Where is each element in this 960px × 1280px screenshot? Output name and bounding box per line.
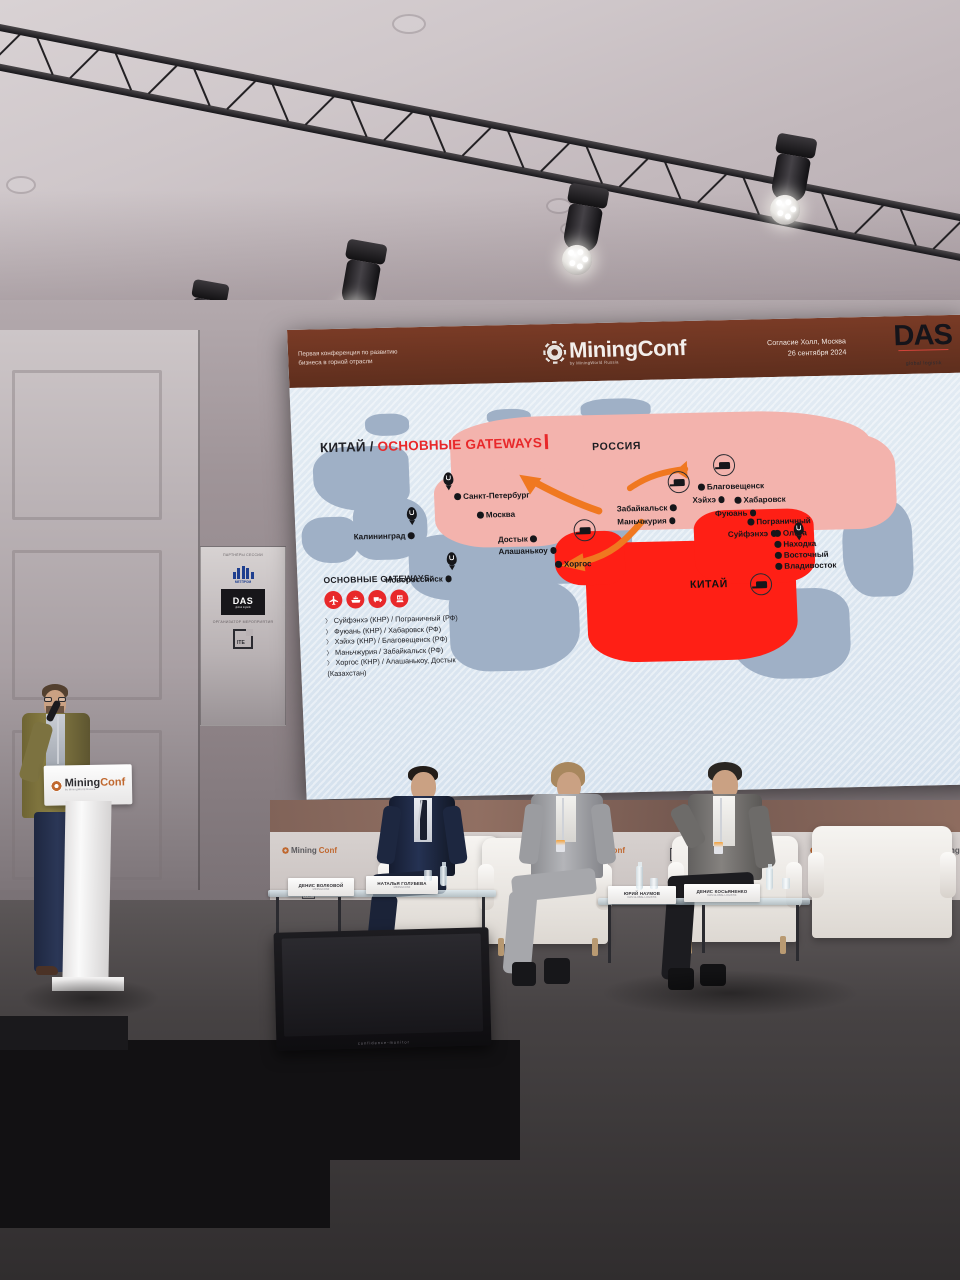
landmass-iberia xyxy=(301,516,359,563)
podium-brand: MiningConf by MiningWorld Russia xyxy=(65,778,126,793)
tumbler xyxy=(650,878,658,889)
city-marker: Забайкальск xyxy=(617,503,677,513)
city-marker: Суйфэнхэ xyxy=(728,529,778,539)
plane-icon xyxy=(324,591,343,609)
city-marker: Хабаровск xyxy=(734,495,785,505)
ceiling-fixture xyxy=(6,176,36,194)
ship-icon xyxy=(346,590,365,608)
legend-items: Суйфэнхэ (КНР) / Пограничный (РФ) Фуюань… xyxy=(325,613,460,679)
das-tagline-slide: global logistik xyxy=(906,360,942,367)
city-marker: Пограничный xyxy=(747,516,811,526)
gear-icon xyxy=(282,847,289,854)
legend-item-continuation: (Казахстан) xyxy=(327,666,460,680)
city-marker: Благовещенск xyxy=(698,481,765,491)
gear-icon xyxy=(51,780,62,791)
backdrop-miningconf-logo: MiningConf xyxy=(282,846,337,855)
ceiling-fixture xyxy=(392,14,426,34)
city-marker: Восточный xyxy=(775,550,829,560)
badge xyxy=(556,840,565,852)
truck-icon xyxy=(368,590,387,608)
country-label-russia: РОССИЯ xyxy=(592,440,641,453)
port-pin-icon xyxy=(446,552,457,565)
city-marker: Находка xyxy=(774,539,816,549)
city-marker: Владивосток xyxy=(775,561,836,571)
das-tagline: global logistik xyxy=(235,606,251,609)
water-bottle xyxy=(636,866,643,890)
legend-icon-row xyxy=(324,588,457,609)
confidence-monitor: confidence-monitor xyxy=(273,927,491,1051)
city-marker: Хэйхэ xyxy=(692,495,725,505)
armchair xyxy=(812,826,952,938)
legend-heading: ОСНОВНЫЕ GATEWAYS: xyxy=(323,572,456,585)
slide-legend: ОСНОВНЫЕ GATEWAYS: xyxy=(323,572,460,679)
floor-shadow xyxy=(600,970,860,1016)
projection-screen: Первая конференция по развитию бизнеса в… xyxy=(287,315,960,800)
slide-tagline: Первая конференция по развитию бизнеса в… xyxy=(288,345,489,368)
das-logo-board: DAS global logistik xyxy=(221,589,265,615)
water-bottle xyxy=(440,866,447,886)
nameplate: ДЕНИС КОСЬЯНЕНКОDAS GLOBAL LOGISTIK xyxy=(684,884,760,902)
podium-sign: MiningConf by MiningWorld Russia xyxy=(44,764,133,806)
das-partner-logo: DAS global logistik xyxy=(893,323,953,370)
tumbler xyxy=(782,878,790,889)
sponsor-caption-bottom: ОРГАНИЗАТОР МЕРОПРИЯТИЯ xyxy=(213,620,274,624)
metprom-label: МЕТПРОМ xyxy=(235,580,251,584)
city-marker: Алашанькоу xyxy=(498,546,557,556)
city-marker: Ольга xyxy=(774,528,807,538)
country-label-china: КИТАЙ xyxy=(690,578,728,591)
water-bottle xyxy=(766,868,773,890)
panel-table-right xyxy=(598,898,810,968)
tumbler xyxy=(424,870,432,881)
das-wordmark: DAS xyxy=(233,596,254,606)
landmass-scandinavia xyxy=(365,413,410,436)
stage-step xyxy=(0,1148,330,1228)
city-marker: Достык xyxy=(498,534,537,544)
floor-shadow xyxy=(20,978,160,1018)
city-marker: Москва xyxy=(477,510,516,520)
slide-map: КИТАЙ / ОСНОВНЫЕ GATEWAYS РОССИЯ КИТАЙ xyxy=(289,373,960,800)
date-text: 26 сентября 2024 xyxy=(744,346,846,359)
monitor-brand: confidence-monitor xyxy=(358,1039,410,1045)
gear-icon xyxy=(546,344,564,361)
nameplate: ДЕНИС ВОЛКОВОЙMININGCONF xyxy=(288,878,354,896)
sponsor-board: ПАРТНЁРЫ СЕССИИ МЕТПРОМ DAS global logis… xyxy=(200,546,286,726)
city-marker: Санкт-Петербург xyxy=(454,491,530,502)
city-marker: Хоргос xyxy=(555,559,592,569)
stage-edge xyxy=(0,1016,128,1050)
conference-hall-photo: ПАРТНЁРЫ СЕССИИ МЕТПРОМ DAS global logis… xyxy=(0,0,960,1280)
metprom-logo: МЕТПРОМ xyxy=(226,562,260,584)
badge xyxy=(714,842,723,854)
das-wordmark-slide: DAS xyxy=(893,323,952,349)
city-marker: Калининград xyxy=(354,531,415,541)
port-pin-icon xyxy=(407,507,418,520)
train-icon xyxy=(390,589,409,607)
slide-brand-name: MiningConf by MiningWorld Russia xyxy=(569,337,687,366)
stage-riser xyxy=(0,1040,520,1160)
city-marker: Маньчжурия xyxy=(617,516,676,526)
sponsor-caption-top: ПАРТНЁРЫ СЕССИИ xyxy=(223,553,263,557)
slide-brand-logo: MiningConf by MiningWorld Russia xyxy=(488,336,745,368)
slide-title-prefix: КИТАЙ / xyxy=(320,439,378,455)
port-pin-icon xyxy=(443,472,454,485)
podium: MiningConf by MiningWorld Russia xyxy=(44,765,132,1005)
landmass-south-asia xyxy=(448,577,582,672)
ite-logo-board: ITE xyxy=(233,629,253,649)
